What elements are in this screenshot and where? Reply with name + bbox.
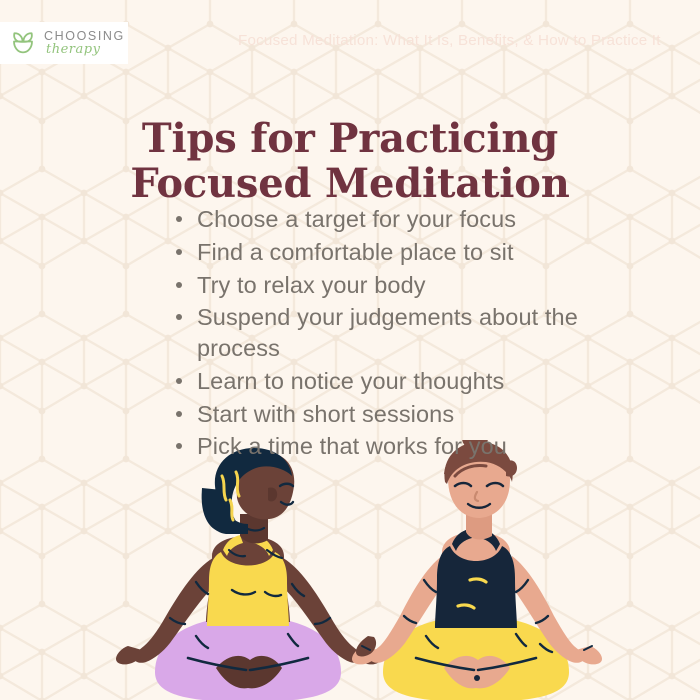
page-title: Tips for Practicing Focused Meditation bbox=[0, 117, 700, 207]
brand-name-secondary: therapy bbox=[46, 43, 127, 56]
list-item: Try to relax your body bbox=[172, 270, 592, 301]
meditating-woman-right bbox=[352, 440, 602, 700]
meditation-illustration bbox=[0, 440, 700, 700]
page-title-line-2: Focused Meditation bbox=[0, 162, 700, 207]
article-header-title: Focused Meditation: What It Is, Benefits… bbox=[238, 32, 690, 49]
meditating-woman-left bbox=[116, 448, 380, 700]
list-item: Pick a time that works for you bbox=[172, 431, 592, 462]
list-item: Find a comfortable place to sit bbox=[172, 237, 592, 268]
list-item: Learn to notice your thoughts bbox=[172, 366, 592, 397]
list-item: Start with short sessions bbox=[172, 399, 592, 430]
page-title-line-1: Tips for Practicing bbox=[0, 117, 700, 162]
list-item: Suspend your judgements about the proces… bbox=[172, 302, 592, 364]
brand-logo[interactable]: CHOOSING therapy bbox=[0, 22, 128, 64]
infographic-poster: CHOOSING therapy Focused Meditation: Wha… bbox=[0, 0, 700, 700]
brand-wordmark: CHOOSING therapy bbox=[44, 30, 125, 57]
tips-list: Choose a target for your focus Find a co… bbox=[172, 204, 592, 464]
brand-name-primary: CHOOSING bbox=[44, 30, 125, 43]
list-item: Choose a target for your focus bbox=[172, 204, 592, 235]
leaf-clover-icon bbox=[8, 28, 38, 58]
